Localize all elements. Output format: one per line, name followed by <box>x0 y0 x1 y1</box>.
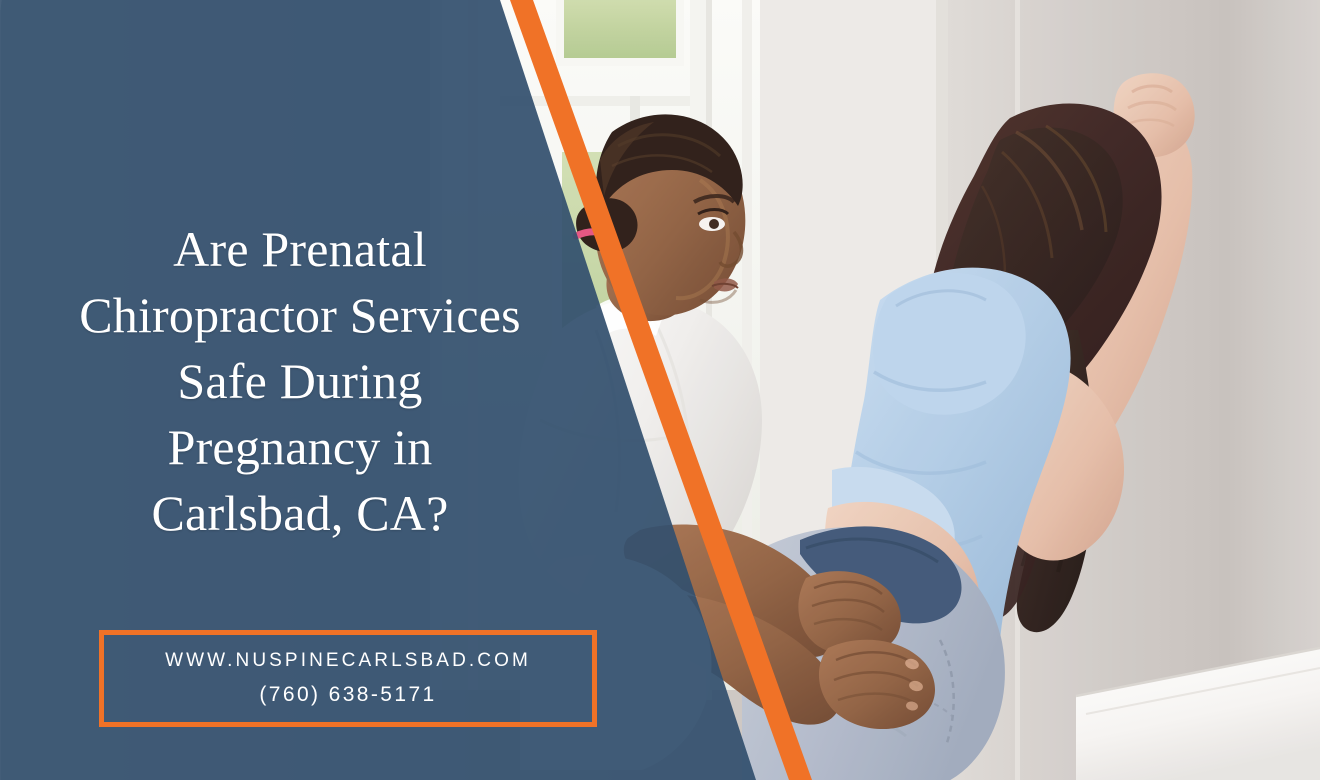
phone-number[interactable]: (760) 638-5171 <box>259 683 436 707</box>
contact-info-box: WWW.NUSPINECARLSBAD.COM (760) 638-5171 <box>99 630 597 727</box>
headline-line-3: Safe During <box>0 348 600 414</box>
headline-line-5: Carlsbad, CA? <box>0 480 600 546</box>
headline-line-2: Chiropractor Services <box>0 282 600 348</box>
promotional-banner: Are Prenatal Chiropractor Services Safe … <box>0 0 1320 780</box>
headline-line-1: Are Prenatal <box>0 216 600 282</box>
website-url[interactable]: WWW.NUSPINECARLSBAD.COM <box>165 650 531 672</box>
page-title: Are Prenatal Chiropractor Services Safe … <box>0 216 600 546</box>
headline-line-4: Pregnancy in <box>0 414 600 480</box>
